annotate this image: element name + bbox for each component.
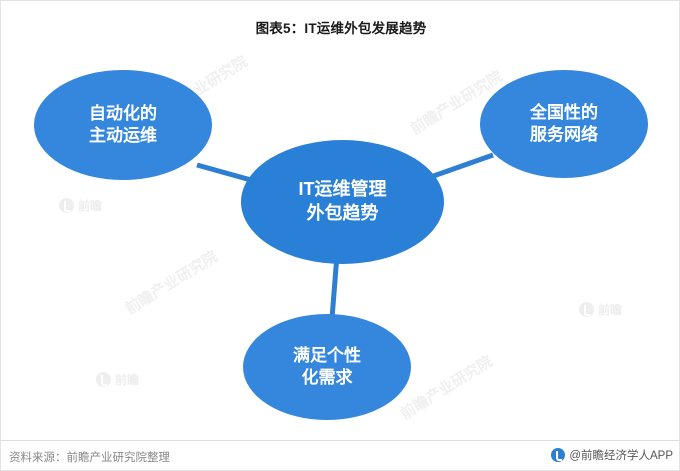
node-left-line1: 自动化的 xyxy=(89,103,157,125)
brand-note: @前瞻经济学人APP xyxy=(551,447,673,463)
node-center: IT运维管理 外包趋势 xyxy=(241,140,444,264)
node-left: 自动化的 主动运维 xyxy=(34,70,212,180)
node-right-line2: 服务网络 xyxy=(530,124,598,146)
chart-figure: 图表5：IT运维外包发展趋势 前瞻产业研究院 前瞻产业研究院 前瞻产业研究院 前… xyxy=(0,0,680,471)
brand-label: @前瞻经济学人APP xyxy=(569,447,673,463)
node-left-line2: 主动运维 xyxy=(89,125,157,147)
node-bottom-line2: 化需求 xyxy=(293,367,361,389)
figure-title: 图表5：IT运维外包发展趋势 xyxy=(1,17,680,37)
node-bottom-line1: 满足个性 xyxy=(293,345,361,367)
diagram-canvas: 自动化的 主动运维 全国性的 服务网络 满足个性 化需求 IT运维管理 外包趋势 xyxy=(1,39,680,429)
node-center-line1: IT运维管理 xyxy=(299,178,387,202)
figure-footer: 资料来源：前瞻产业研究院整理 @前瞻经济学人APP xyxy=(1,440,680,470)
connector-right xyxy=(425,155,493,179)
node-bottom: 满足个性 化需求 xyxy=(243,314,411,420)
node-right: 全国性的 服务网络 xyxy=(480,70,648,178)
source-note: 资料来源：前瞻产业研究院整理 xyxy=(9,449,170,465)
node-center-line2: 外包趋势 xyxy=(299,202,387,226)
node-right-line1: 全国性的 xyxy=(530,102,598,124)
brand-circle-icon xyxy=(551,448,565,462)
